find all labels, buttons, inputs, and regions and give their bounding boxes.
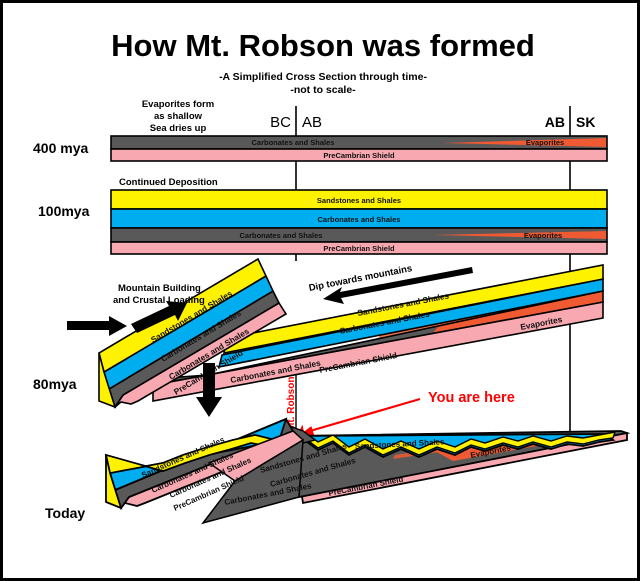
evaporites-form-line-2: as shallow bbox=[154, 111, 203, 122]
label-evaporites-100: Evaporites bbox=[524, 231, 562, 240]
subtitle-line-2: -not to scale- bbox=[290, 84, 356, 96]
label-carbonates-blue-100: Carbonates and Shales bbox=[318, 215, 401, 224]
stage-today: Sandstones and Shales Carbonates and Sha… bbox=[106, 419, 627, 523]
time-label-today: Today bbox=[45, 505, 85, 521]
annotation-evaporites-form: Evaporites form as shallow Sea dries up bbox=[142, 99, 214, 134]
label-carbonates-gray-100: Carbonates and Shales bbox=[240, 231, 323, 240]
stage-400mya: Carbonates and Shales Evaporites PreCamb… bbox=[111, 136, 607, 161]
province-label-sk: SK bbox=[576, 114, 595, 130]
stage-100mya: Sandstones and Shales Carbonates and Sha… bbox=[111, 190, 607, 254]
cross-section-diagram: How Mt. Robson was formed -A Simplified … bbox=[3, 3, 640, 581]
diagram-page: How Mt. Robson was formed -A Simplified … bbox=[0, 0, 640, 581]
evaporites-form-line-1: Evaporites form bbox=[142, 99, 214, 110]
label-evaporites-400: Evaporites bbox=[526, 138, 564, 147]
label-sandstones-and-shales-100: Sandstones and Shales bbox=[317, 196, 401, 205]
annotation-continued-deposition: Continued Deposition bbox=[119, 177, 218, 188]
province-label-ab-east: AB bbox=[545, 114, 565, 130]
mountain-building-line-1: Mountain Building bbox=[118, 283, 201, 294]
subtitle-line-1: -A Simplified Cross Section through time… bbox=[219, 71, 427, 83]
label-precambrian-shield-400: PreCambrian Shield bbox=[323, 151, 395, 160]
time-label-80mya: 80mya bbox=[33, 376, 77, 392]
time-label-100mya: 100mya bbox=[38, 203, 90, 219]
stage-80mya: Sandstones and Shales Carbonates and Sha… bbox=[67, 259, 603, 417]
province-label-ab-west: AB bbox=[302, 114, 322, 131]
label-precambrian-shield-100: PreCambrian Shield bbox=[323, 244, 395, 253]
evaporites-form-line-3: Sea dries up bbox=[150, 123, 207, 134]
annotation-mountain-building: Mountain Building and Crustal Loading bbox=[113, 283, 205, 306]
label-carbonates-and-shales-400: Carbonates and Shales bbox=[252, 138, 335, 147]
compression-arrow-horizontal bbox=[67, 316, 127, 336]
province-label-bc: BC bbox=[270, 114, 291, 131]
page-title: How Mt. Robson was formed bbox=[111, 28, 535, 63]
you-are-here-label: You are here bbox=[428, 390, 515, 406]
time-label-400mya: 400 mya bbox=[33, 140, 88, 156]
mountain-building-line-2: and Crustal Loading bbox=[113, 295, 205, 306]
